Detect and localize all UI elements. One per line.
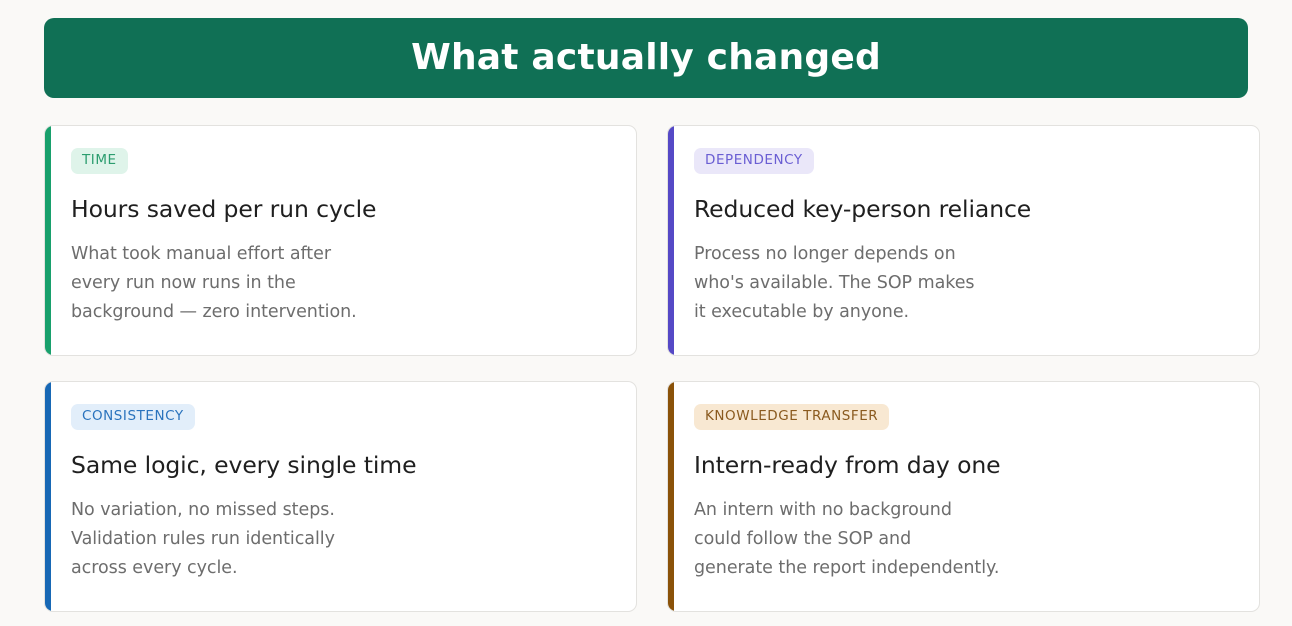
card-accent-bar bbox=[45, 382, 51, 611]
card-accent-bar bbox=[45, 126, 51, 355]
card-accent-bar bbox=[668, 126, 674, 355]
card-title: Same logic, every single time bbox=[71, 452, 612, 479]
card-accent-bar bbox=[668, 382, 674, 611]
status-badge: DEPENDENCY bbox=[694, 148, 814, 174]
card-description: No variation, no missed steps. Validatio… bbox=[71, 496, 612, 584]
card-description: What took manual effort after every run … bbox=[71, 240, 612, 328]
status-badge: CONSISTENCY bbox=[71, 404, 195, 430]
page-root: What actually changed TIME Hours saved p… bbox=[0, 0, 1292, 626]
card-title: Intern-ready from day one bbox=[694, 452, 1235, 479]
card-title: Hours saved per run cycle bbox=[71, 196, 612, 223]
outcome-card[interactable]: DEPENDENCY Reduced key-person reliance P… bbox=[667, 125, 1260, 356]
outcome-card-grid: TIME Hours saved per run cycle What took… bbox=[44, 125, 1264, 612]
header-banner: What actually changed bbox=[44, 18, 1248, 98]
status-badge: TIME bbox=[71, 148, 128, 174]
status-badge: KNOWLEDGE TRANSFER bbox=[694, 404, 889, 430]
outcome-card[interactable]: TIME Hours saved per run cycle What took… bbox=[44, 125, 637, 356]
card-description: An intern with no background could follo… bbox=[694, 496, 1235, 584]
outcome-card[interactable]: CONSISTENCY Same logic, every single tim… bbox=[44, 381, 637, 612]
outcome-card[interactable]: KNOWLEDGE TRANSFER Intern-ready from day… bbox=[667, 381, 1260, 612]
page-title: What actually changed bbox=[411, 40, 881, 76]
card-description: Process no longer depends on who's avail… bbox=[694, 240, 1235, 328]
card-title: Reduced key-person reliance bbox=[694, 196, 1235, 223]
